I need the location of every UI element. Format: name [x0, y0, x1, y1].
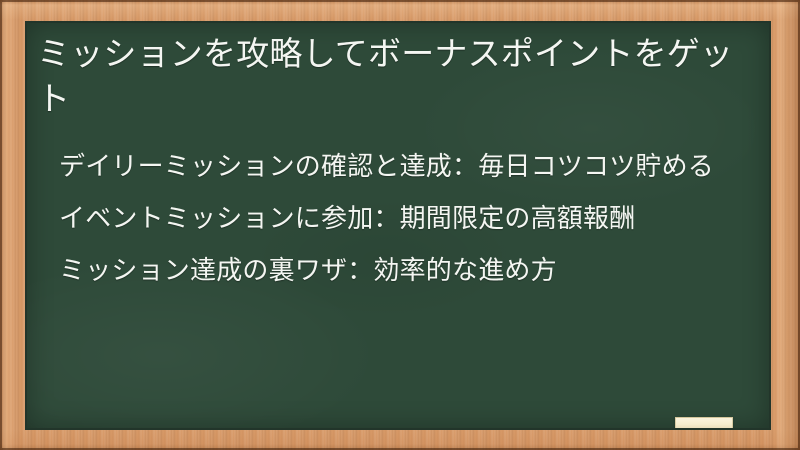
list-item: デイリーミッションの確認と達成：毎日コツコツ貯める — [59, 147, 759, 185]
page-title: ミッションを攻略してボーナスポイントをゲット — [37, 31, 753, 121]
list-item: イベントミッションに参加：期間限定の高額報酬 — [59, 199, 759, 237]
bullet-list: デイリーミッションの確認と達成：毎日コツコツ貯める イベントミッションに参加：期… — [59, 147, 759, 289]
chalkboard-panel: ミッションを攻略してボーナスポイントをゲット デイリーミッションの確認と達成：毎… — [25, 21, 771, 430]
chalk-stick-icon — [675, 417, 733, 430]
board-content: ミッションを攻略してボーナスポイントをゲット デイリーミッションの確認と達成：毎… — [27, 23, 771, 430]
chalkboard-slide: ミッションを攻略してボーナスポイントをゲット デイリーミッションの確認と達成：毎… — [0, 0, 800, 450]
list-item: ミッション達成の裏ワザ：効率的な進め方 — [59, 251, 759, 289]
